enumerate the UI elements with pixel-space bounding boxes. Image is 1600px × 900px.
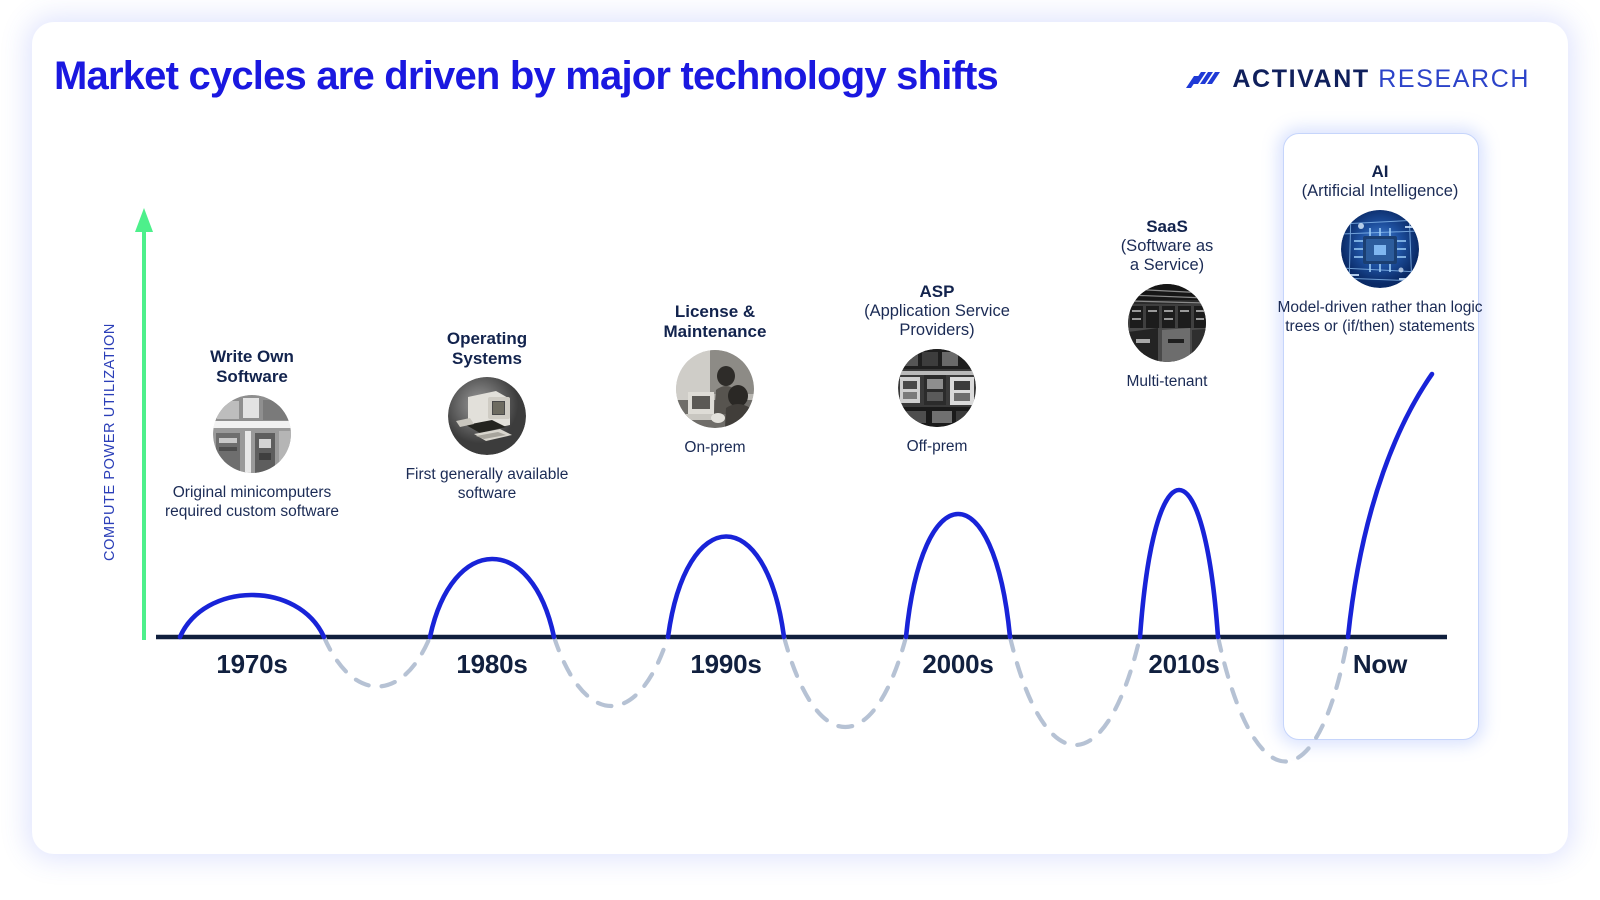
- era-title-1970s: Write Own Software: [147, 347, 357, 386]
- minicomputer-room-photo: [213, 395, 291, 473]
- decade-label-1990s: 1990s: [631, 649, 821, 680]
- era-title-line1: Operating: [382, 329, 592, 349]
- era-block-now: AI (Artificial Intelligence): [1275, 162, 1485, 337]
- era-subtitle-now: (Artificial Intelligence): [1275, 182, 1485, 201]
- crest-2000s: [906, 514, 1010, 637]
- decade-label-2010s: 2010s: [1089, 649, 1279, 680]
- crest-1980s: [430, 559, 554, 637]
- era-title-2010s: SaaS: [1062, 217, 1272, 237]
- data-center-photo: [1128, 284, 1206, 362]
- decade-label-2000s: 2000s: [863, 649, 1053, 680]
- era-caption-2000s: Off-prem: [832, 438, 1042, 457]
- era-title-1980s: Operating Systems: [382, 329, 592, 368]
- decade-label-1970s: 1970s: [157, 649, 347, 680]
- era-caption-now: Model-driven rather than logic trees or …: [1275, 299, 1485, 337]
- era-title-now: AI: [1275, 162, 1485, 182]
- ai-microchip-photo: [1341, 210, 1419, 288]
- era-title-line1: SaaS: [1062, 217, 1272, 237]
- decade-label-1980s: 1980s: [397, 649, 587, 680]
- era-caption-1990s: On-prem: [610, 439, 820, 458]
- era-title-2000s: ASP: [832, 282, 1042, 302]
- crest-2010s: [1140, 490, 1218, 637]
- era-title-line2: Maintenance: [610, 322, 820, 342]
- crest-now: [1348, 374, 1432, 637]
- screenshot-root: Market cycles are driven by major techno…: [0, 0, 1600, 900]
- era-title-line1: License &: [610, 302, 820, 322]
- era-block-1980s: Operating Systems: [382, 329, 592, 504]
- era-caption-2010s: Multi-tenant: [1062, 373, 1272, 392]
- desktop-computer-photo: [448, 377, 526, 455]
- era-title-line1: ASP: [832, 282, 1042, 302]
- era-block-2000s: ASP (Application Service Providers): [832, 282, 1042, 457]
- era-block-1990s: License & Maintenance: [610, 302, 820, 458]
- era-subtitle-2010s: (Software asa Service): [1062, 237, 1272, 275]
- cycle-chart: COMPUTE POWER UTILIZATION Write Own Soft…: [32, 22, 1568, 854]
- crest-1970s: [180, 595, 324, 637]
- era-subtitle-2000s: (Application Service Providers): [832, 302, 1042, 340]
- era-title-line1: Write Own: [147, 347, 357, 367]
- era-title-line2: Systems: [382, 349, 592, 369]
- era-block-1970s: Write Own Software: [147, 347, 357, 522]
- y-axis-label: COMPUTE POWER UTILIZATION: [96, 307, 124, 577]
- crest-1990s: [668, 536, 784, 637]
- era-title-1990s: License & Maintenance: [610, 302, 820, 341]
- era-caption-1970s: Original minicomputers required custom s…: [147, 484, 357, 522]
- era-block-2010s: SaaS (Software asa Service): [1062, 217, 1272, 392]
- era-title-line2: Software: [147, 367, 357, 387]
- server-rack-photo: [898, 349, 976, 427]
- era-title-line1: AI: [1275, 162, 1485, 182]
- content-card: Market cycles are driven by major techno…: [32, 22, 1568, 854]
- decade-label-now: Now: [1285, 649, 1475, 680]
- era-caption-1980s: First generally available software: [382, 466, 592, 504]
- y-axis-label-text: COMPUTE POWER UTILIZATION: [102, 323, 118, 561]
- office-workers-computer-photo: [676, 350, 754, 428]
